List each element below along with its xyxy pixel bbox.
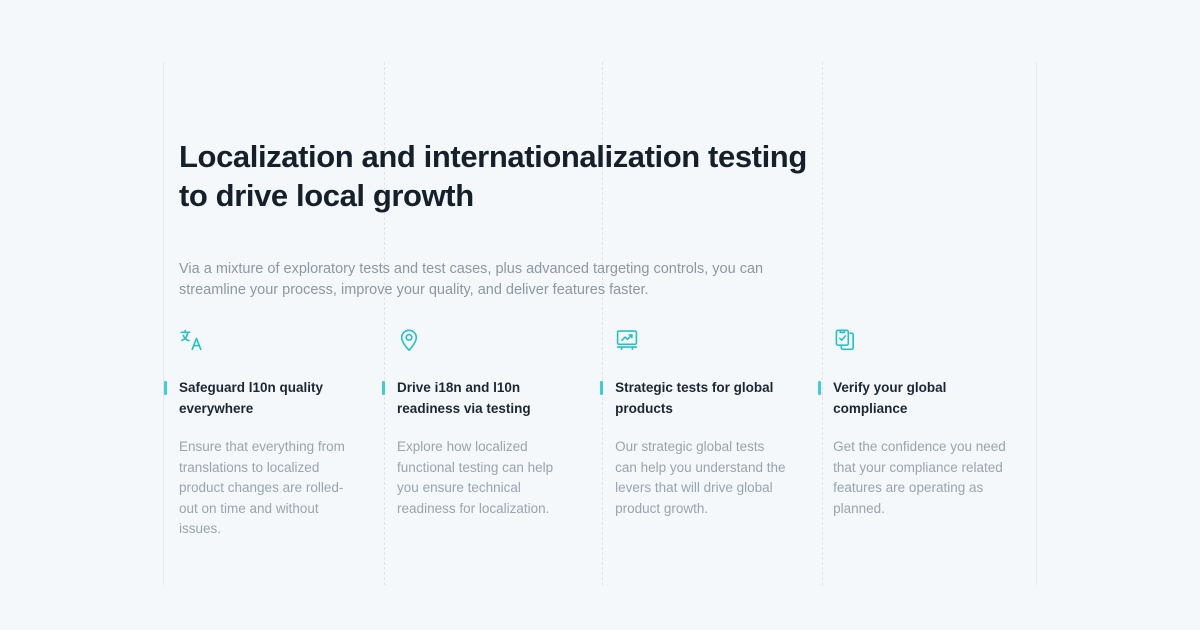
header-block: Localization and internationalization te… (179, 137, 839, 301)
accent-bar (164, 381, 167, 395)
feature-card-title: Safeguard l10n quality everywhere (179, 378, 352, 419)
translate-icon (179, 328, 203, 352)
content-container: Localization and internationalization te… (163, 62, 1037, 585)
feature-card-body: Explore how localized functional testing… (397, 419, 570, 519)
feature-card: Verify your global compliance Get the co… (818, 328, 1036, 540)
feature-card-body: Our strategic global tests can help you … (615, 419, 788, 519)
feature-card: Strategic tests for global products Our … (600, 328, 818, 540)
feature-card-body: Ensure that everything from translations… (179, 419, 352, 540)
feature-card-title: Strategic tests for global products (615, 378, 788, 419)
accent-bar (600, 381, 603, 395)
map-pin-icon (397, 328, 421, 352)
feature-card-grid: Safeguard l10n quality everywhere Ensure… (164, 328, 1036, 540)
clipboard-check-icon (833, 328, 857, 352)
accent-bar (818, 381, 821, 395)
feature-card-title: Drive i18n and l10n readiness via testin… (397, 378, 570, 419)
feature-card-body: Get the confidence you need that your co… (833, 419, 1020, 519)
feature-card-title-row: Strategic tests for global products (615, 378, 788, 419)
page-title: Localization and internationalization te… (179, 137, 839, 215)
feature-card: Drive i18n and l10n readiness via testin… (382, 328, 600, 540)
presentation-chart-icon (615, 328, 639, 352)
accent-bar (382, 381, 385, 395)
feature-card-title: Verify your global compliance (833, 378, 1020, 419)
page-subtitle: Via a mixture of exploratory tests and t… (179, 215, 807, 301)
feature-card-title-row: Verify your global compliance (833, 378, 1020, 419)
feature-card-title-row: Safeguard l10n quality everywhere (179, 378, 352, 419)
feature-card-title-row: Drive i18n and l10n readiness via testin… (397, 378, 570, 419)
feature-card: Safeguard l10n quality everywhere Ensure… (164, 328, 382, 540)
